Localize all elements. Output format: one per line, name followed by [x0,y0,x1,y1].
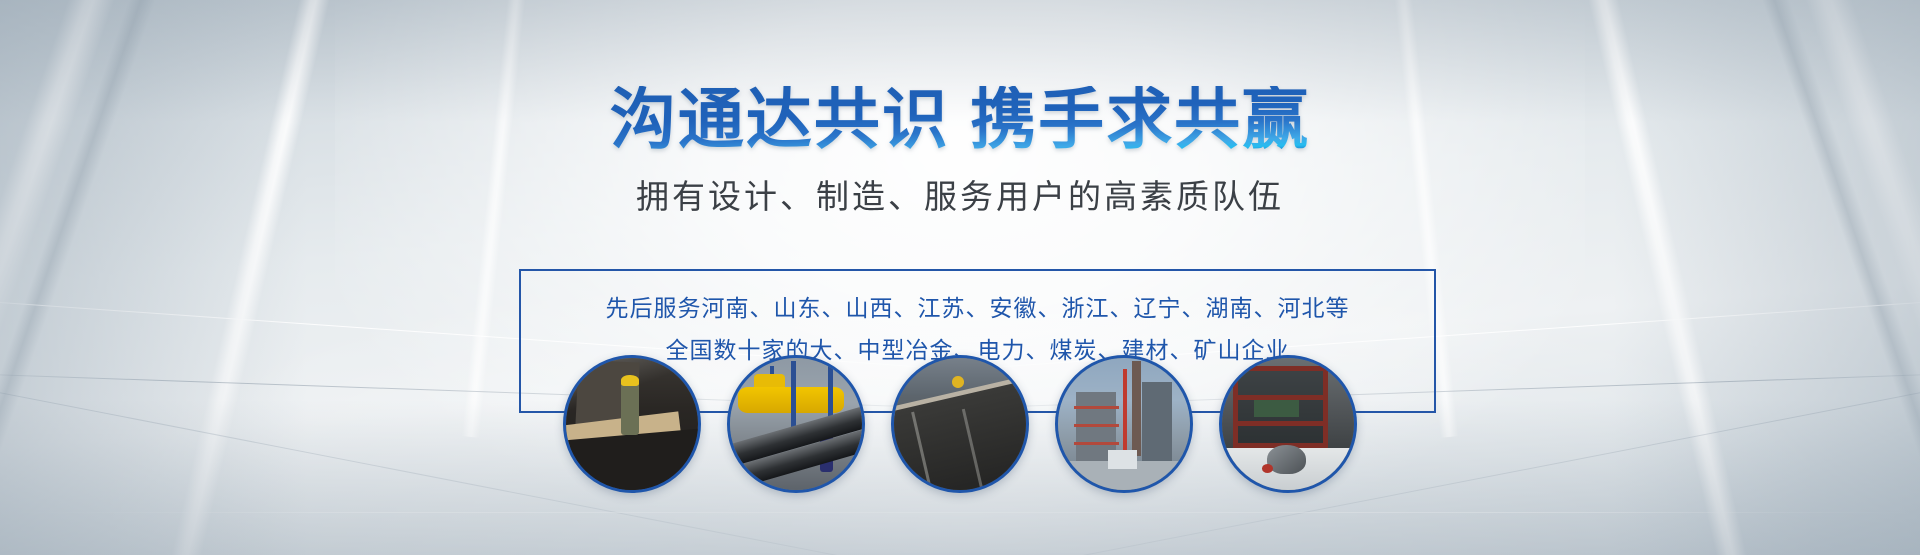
project-photo-3[interactable] [891,355,1029,493]
project-photo-3-image [894,358,1026,490]
project-photo-4[interactable] [1055,355,1193,493]
project-photo-1-image [566,358,698,490]
project-photo-1[interactable] [563,355,701,493]
project-photo-strip [0,355,1920,493]
promo-banner: 沟通达共识 携手求共赢 拥有设计、制造、服务用户的高素质队伍 先后服务河南、山东… [0,0,1920,555]
banner-headline: 沟通达共识 携手求共赢 [610,86,1310,152]
project-photo-2-image [730,358,862,490]
project-photo-4-image [1058,358,1190,490]
service-scope-line-1: 先后服务河南、山东、山西、江苏、安徽、浙江、辽宁、湖南、河北等 [521,287,1434,329]
project-photo-5[interactable] [1219,355,1357,493]
banner-content: 沟通达共识 携手求共赢 拥有设计、制造、服务用户的高素质队伍 先后服务河南、山东… [0,0,1920,555]
project-photo-5-image [1222,358,1354,490]
project-photo-2[interactable] [727,355,865,493]
banner-subheadline: 拥有设计、制造、服务用户的高素质队伍 [636,170,1284,218]
